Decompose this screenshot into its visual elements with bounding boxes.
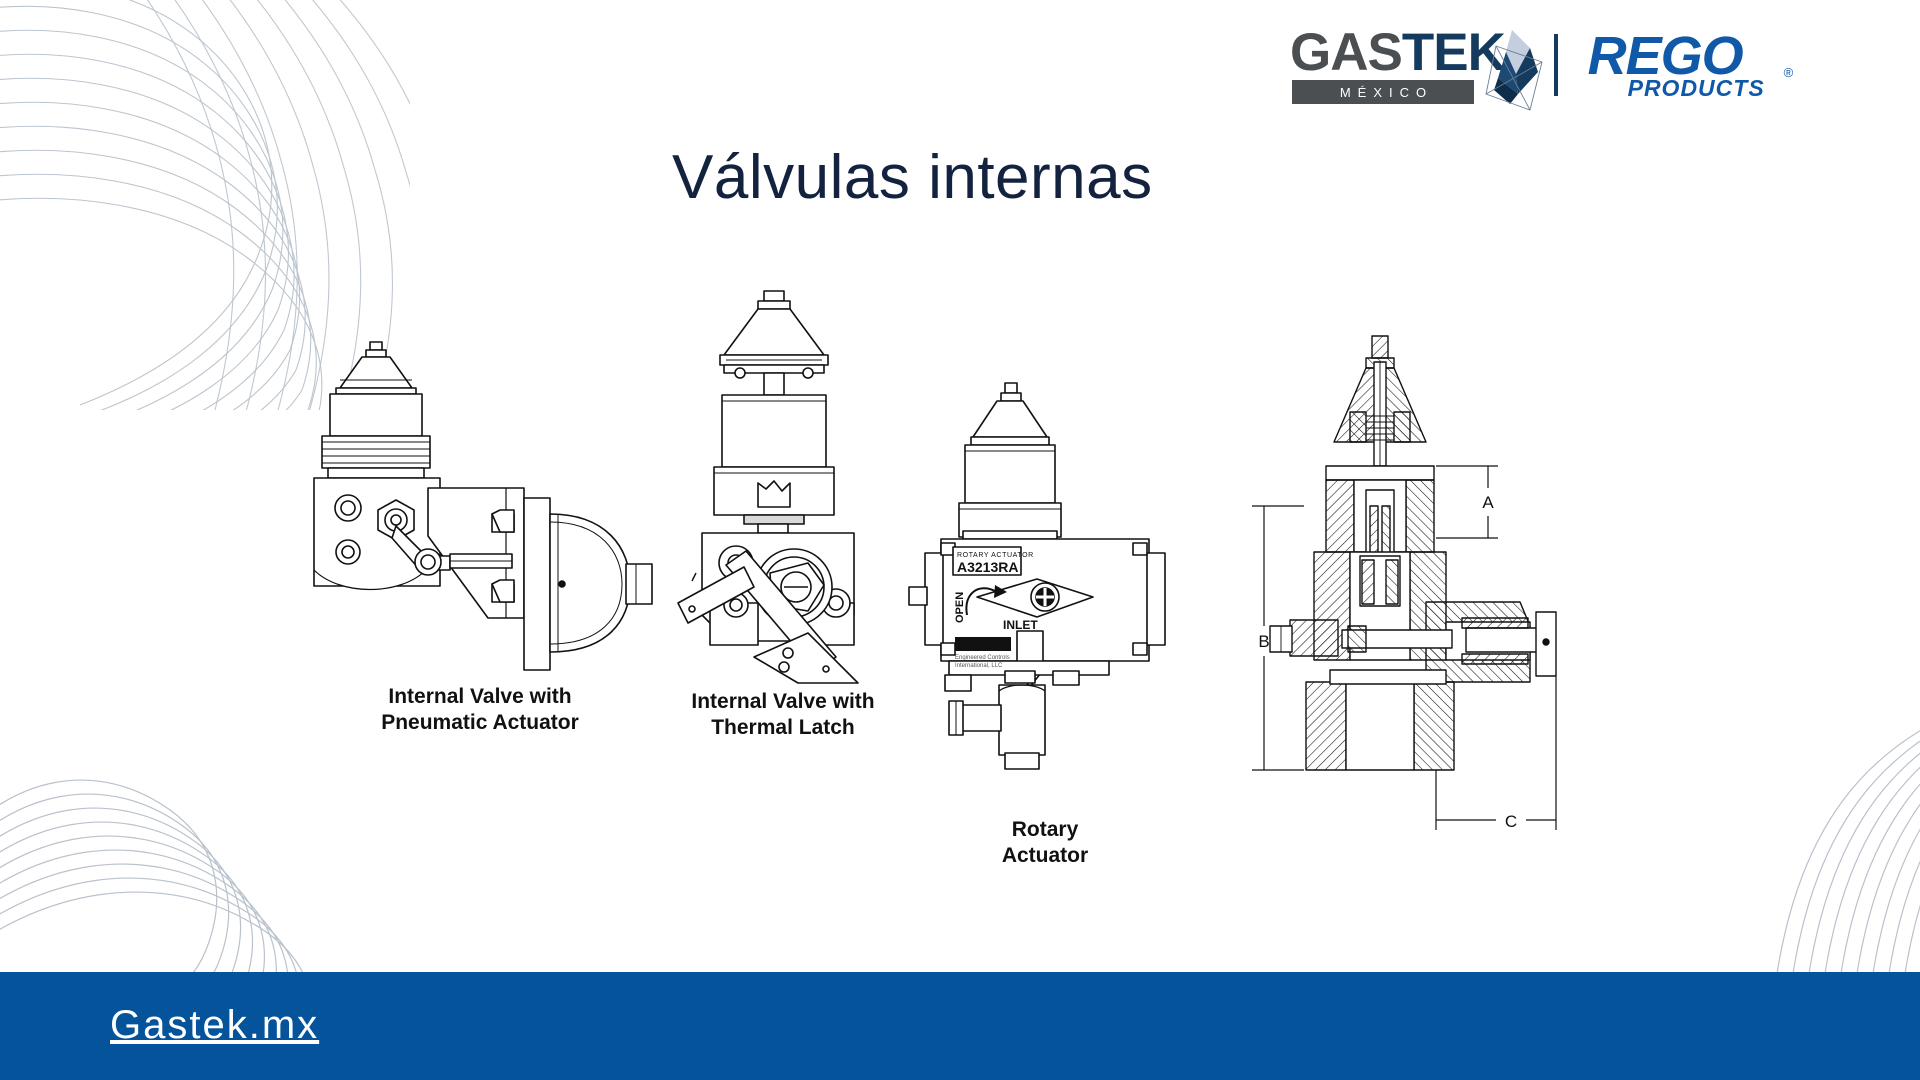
rotary-actuator-open-label: OPEN <box>954 592 966 623</box>
figure-internal-valve-thermal-latch: Internal Valve with Thermal Latch <box>658 285 908 742</box>
figure-rotary-actuator: ROTARY ACTUATOR A3213RA OPEN INLET Engin… <box>905 375 1185 870</box>
rego-logo: REGO ® PRODUCTS <box>1588 25 1810 105</box>
rego-products-label: PRODUCTS <box>1628 77 1765 100</box>
dimension-label-b: B <box>1258 632 1269 651</box>
rego-registered-mark: ® <box>1784 65 1794 80</box>
logo-divider <box>1554 34 1558 96</box>
gastek-mexico-bar: MÉXICO <box>1292 80 1474 104</box>
rotary-actuator-inlet-label: INLET <box>1003 618 1038 632</box>
dimension-label-a: A <box>1482 493 1494 512</box>
decorative-waves-bottom-left <box>0 700 390 1000</box>
gastek-logo: GASTEK MÉXICO <box>1290 20 1532 110</box>
internal-valve-thermal-latch-drawing <box>658 285 908 685</box>
gastek-word-part1: GAS <box>1290 23 1402 82</box>
figure-caption: Rotary Actuator <box>905 817 1185 870</box>
rotary-actuator-drawing: ROTARY ACTUATOR A3213RA OPEN INLET Engin… <box>905 375 1185 795</box>
figure-caption: Internal Valve with Pneumatic Actuator <box>300 684 660 737</box>
rotary-actuator-device-title: ROTARY ACTUATOR <box>957 552 1034 559</box>
footer-website-link[interactable]: Gastek.mx <box>110 1003 319 1048</box>
decorative-arcs-bottom-right <box>1660 730 1920 980</box>
internal-valve-pneumatic-actuator-drawing <box>300 330 660 680</box>
figure-caption: Internal Valve with Thermal Latch <box>658 689 908 742</box>
header-logo-bar: GASTEK MÉXICO REGO ® PRODUCTS <box>1290 20 1810 110</box>
rotary-actuator-manufacturer-line2: International, LLC <box>955 663 1003 669</box>
dimension-label-c: C <box>1505 812 1517 831</box>
gastek-mexico-label: MÉXICO <box>1333 85 1433 100</box>
gem-icon <box>1472 28 1550 113</box>
internal-valve-cross-section-drawing: A B C <box>1230 330 1590 850</box>
slide-canvas: GASTEK MÉXICO REGO ® PRODUCTS Válvulas <box>0 0 1920 1080</box>
page-title: Válvulas internas <box>672 142 1153 213</box>
rotary-actuator-model: A3213RA <box>957 559 1018 575</box>
figure-internal-valve-cross-section: A B C <box>1230 330 1590 850</box>
figure-internal-valve-pneumatic-actuator: Internal Valve with Pneumatic Actuator <box>300 330 660 737</box>
rotary-actuator-manufacturer-line1: Engineered Controls <box>955 655 1010 661</box>
